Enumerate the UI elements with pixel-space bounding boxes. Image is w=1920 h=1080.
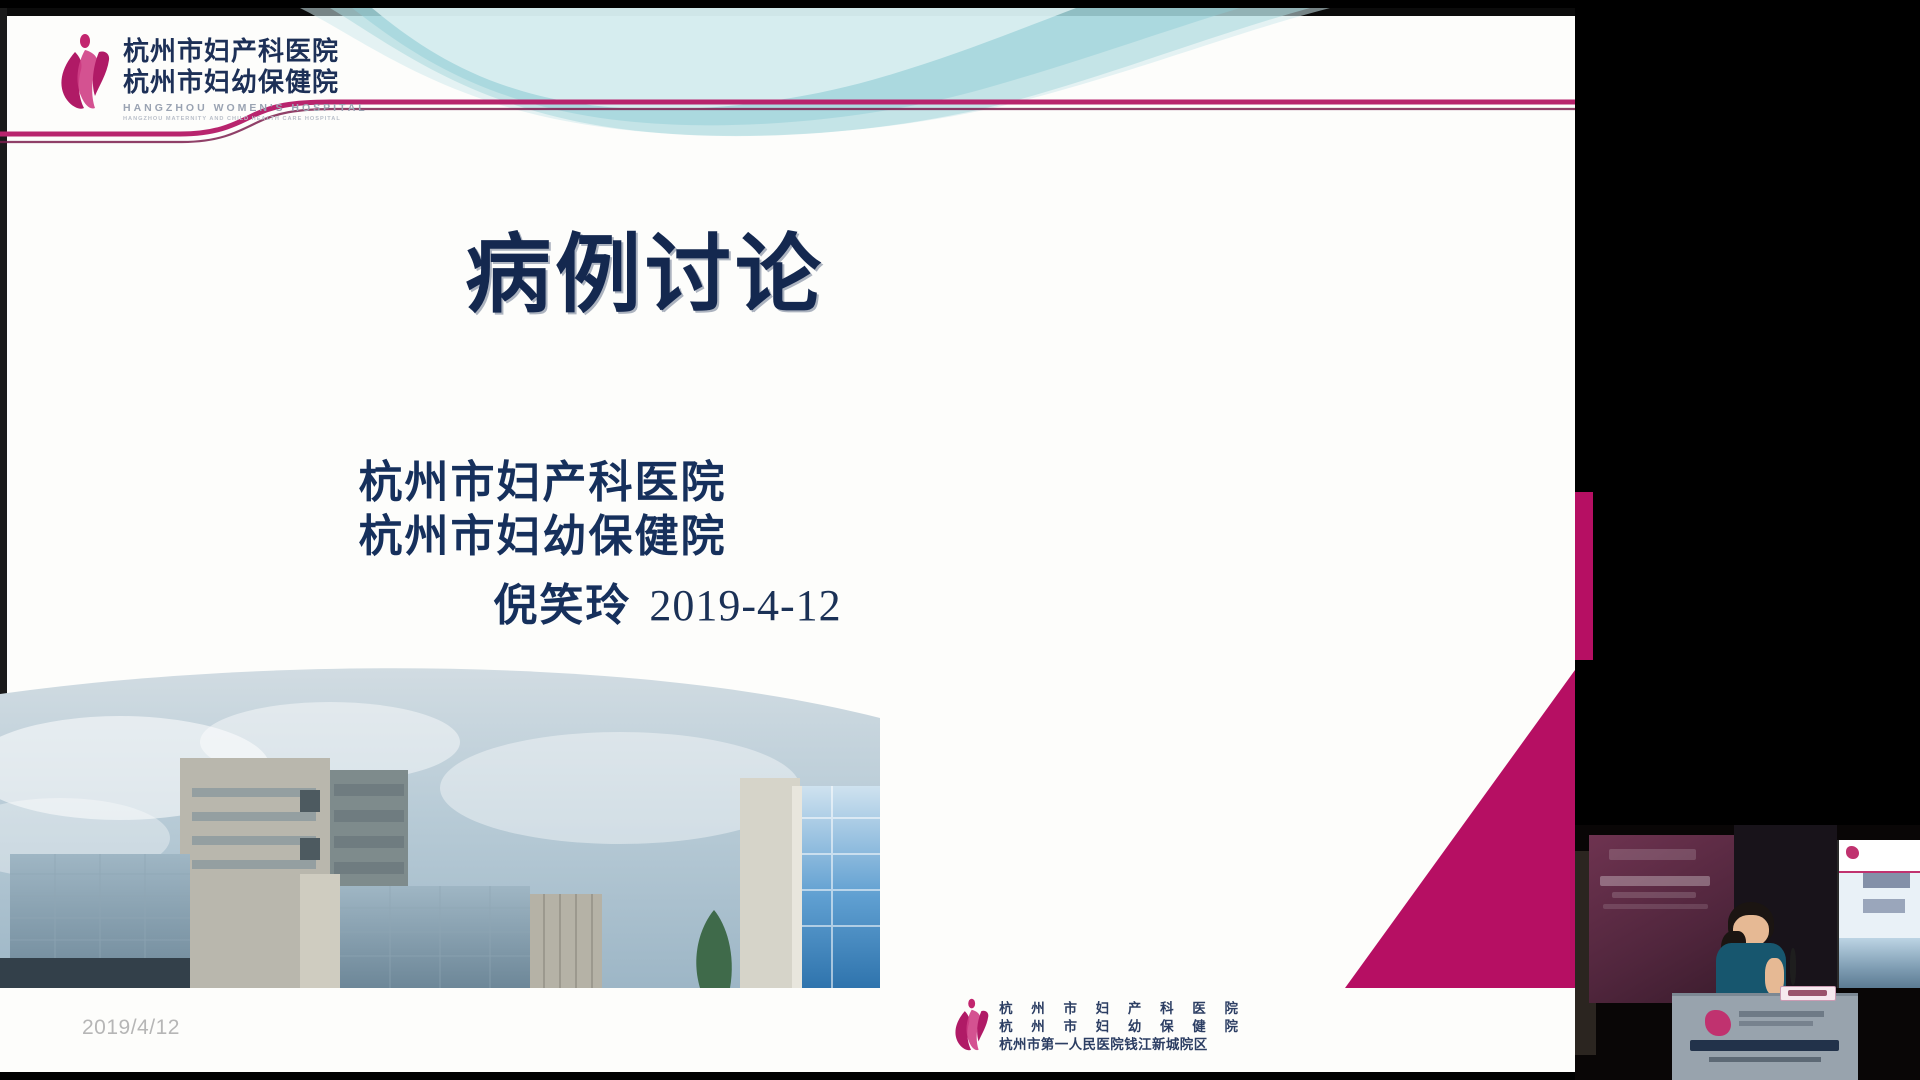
pip-screen-logo-icon: [1846, 846, 1859, 859]
slide-footer: 2019/4/12 杭 州 市 妇 产 科 医 院 杭 州 市 妇 幼 保 健 …: [0, 988, 1575, 1072]
pip-screen-text-2: [1863, 899, 1905, 912]
pip-name-card-text: [1788, 990, 1827, 996]
pip-podium-subtitle: [1709, 1057, 1821, 1063]
slide-title: 病例讨论: [0, 204, 1290, 329]
footer-date: 2019/4/12: [82, 1016, 180, 1040]
presenter-byline: 倪笑玲 2019-4-12: [0, 569, 1085, 633]
logo-english-sub: HANGZHOU MATERNITY AND CHILD HEALTH CARE…: [123, 116, 368, 122]
logo-text-block: 杭州市妇产科医院 杭州市妇幼保健院 HANGZHOU WOMEN'S HOSPI…: [123, 34, 368, 122]
hospital-logo-footer: 杭 州 市 妇 产 科 医 院 杭 州 市 妇 幼 保 健 院 杭州市第一人民医…: [951, 998, 1245, 1056]
pip-banner-logo: [1609, 849, 1696, 861]
presentation-slide: 杭州市妇产科医院 杭州市妇幼保健院 HANGZHOU WOMEN'S HOSPI…: [0, 8, 1575, 1072]
flame-figure-icon-small: [951, 998, 991, 1056]
pip-banner-detail: [1603, 904, 1707, 909]
pip-podium: [1672, 993, 1858, 1080]
screen-capture: 杭州市妇产科医院 杭州市妇幼保健院 HANGZHOU WOMEN'S HOSPI…: [0, 0, 1920, 1080]
subtitle-line-1: 杭州市妇产科医院: [0, 456, 1085, 510]
pip-screen-header: [1839, 840, 1920, 873]
logo-english: HANGZHOU WOMEN'S HOSPITAL: [123, 102, 368, 114]
hospital-logo-header: 杭州市妇产科医院 杭州市妇幼保健院 HANGZHOU WOMEN'S HOSPI…: [55, 34, 368, 122]
pip-name-card: [1780, 986, 1836, 1001]
pip-banner-subtitle: [1612, 892, 1696, 898]
logo-line-2: 杭州市妇幼保健院: [123, 68, 368, 99]
pip-projection-screen: [1837, 840, 1920, 988]
footer-logo-text: 杭 州 市 妇 产 科 医 院 杭 州 市 妇 幼 保 健 院 杭州市第一人民医…: [999, 1000, 1245, 1055]
pip-event-banner: [1589, 835, 1734, 1003]
pip-podium-logo-icon: [1705, 1010, 1731, 1037]
logo-line-1: 杭州市妇产科医院: [123, 37, 368, 68]
pip-room-scene: [1575, 825, 1920, 1080]
pip-podium-text-1: [1739, 1011, 1825, 1017]
footer-logo-line-1: 杭 州 市 妇 产 科 医 院: [999, 1000, 1245, 1018]
pip-podium-title: [1690, 1040, 1839, 1051]
magenta-accent-strip: [1575, 492, 1593, 660]
subtitle-line-2: 杭州市妇幼保健院: [0, 510, 1085, 564]
magenta-corner-triangle: [1345, 670, 1575, 988]
hospital-building-photo: [0, 658, 880, 988]
footer-logo-line-2: 杭 州 市 妇 幼 保 健 院: [999, 1018, 1245, 1036]
pip-screen-text-1: [1863, 873, 1910, 888]
pip-podium-text-2: [1739, 1021, 1814, 1026]
presentation-date: 2019-4-12: [649, 580, 841, 631]
footer-logo-line-3: 杭州市第一人民医院钱江新城院区: [999, 1036, 1245, 1054]
flame-figure-icon: [55, 34, 113, 116]
slide-subtitle-block: 杭州市妇产科医院 杭州市妇幼保健院 倪笑玲 2019-4-12: [0, 456, 1085, 633]
pip-banner-title: [1600, 876, 1710, 886]
pip-screen-photo: [1839, 938, 1920, 988]
presenter-name: 倪笑玲: [493, 569, 631, 633]
pip-microphone-icon: [1790, 948, 1797, 985]
speaker-video-feed[interactable]: [1575, 825, 1920, 1080]
